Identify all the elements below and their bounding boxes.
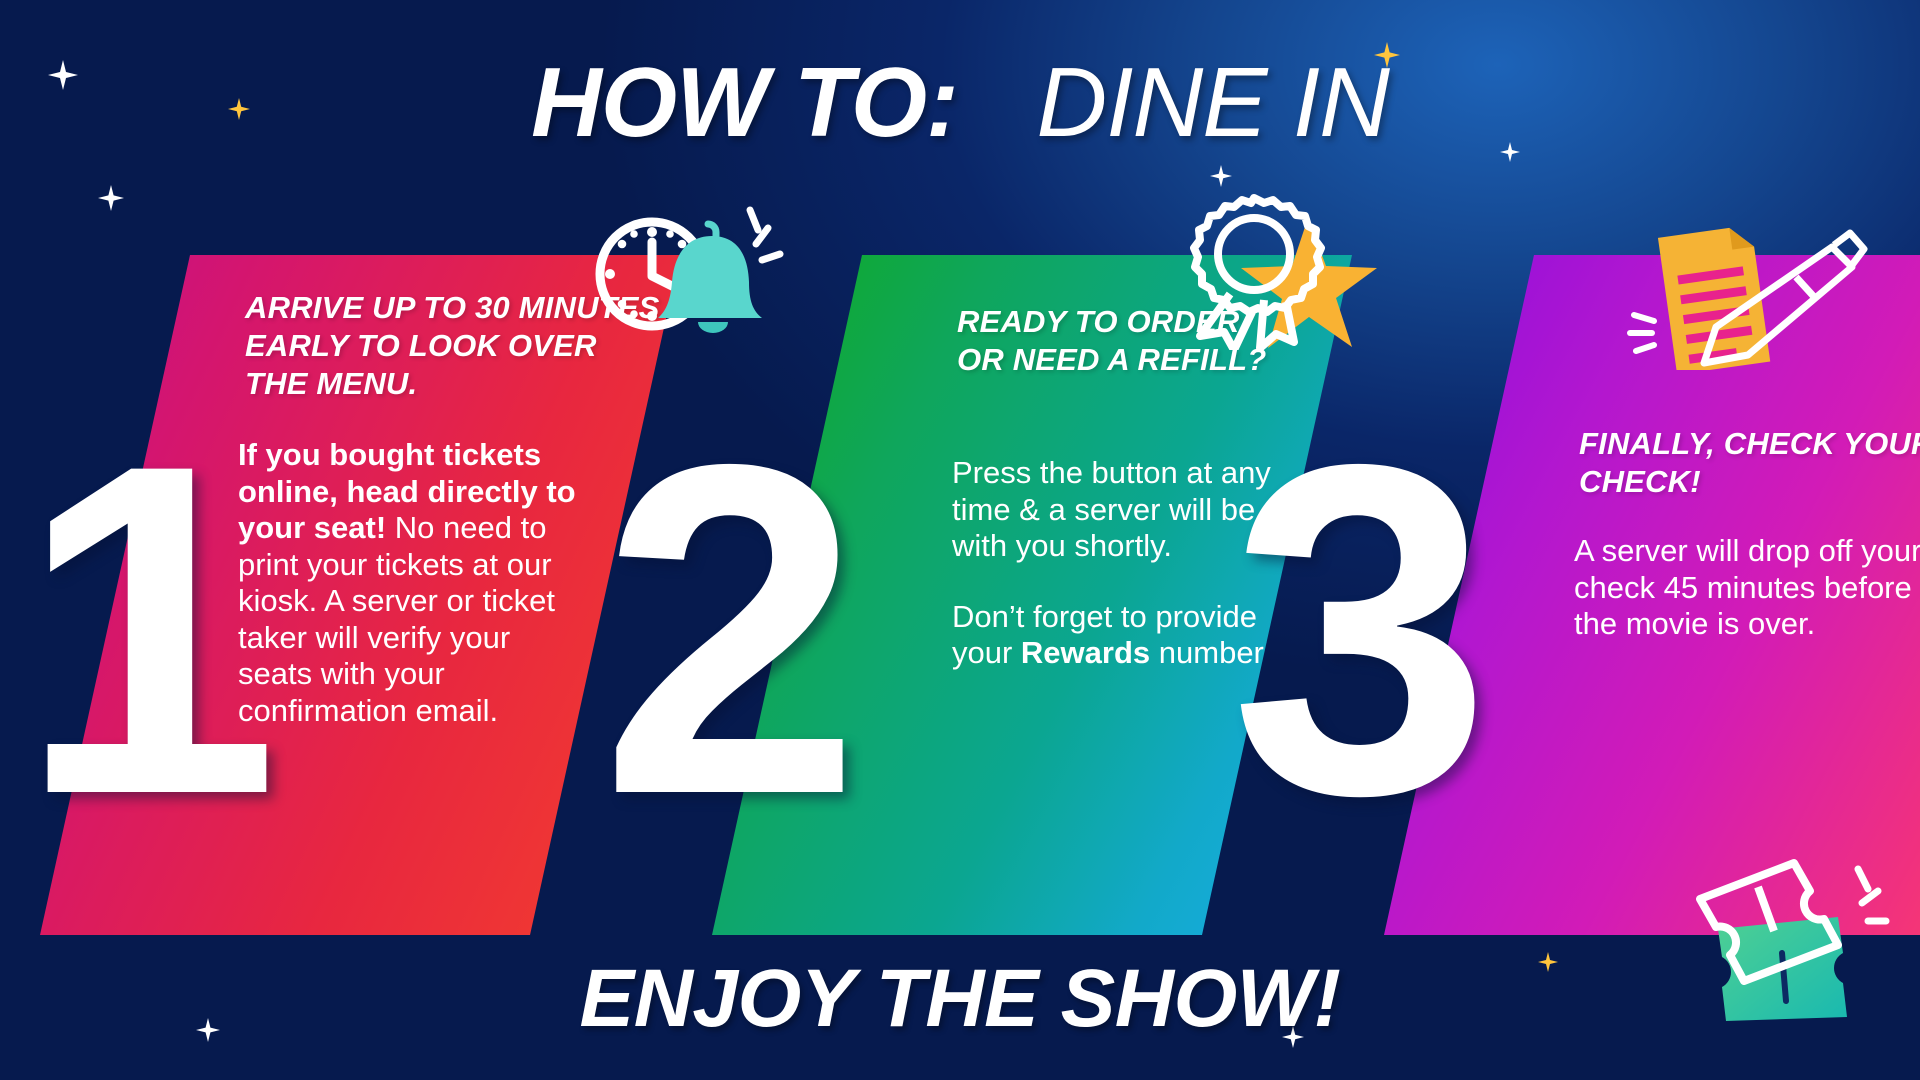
award-ribbon-star-icon bbox=[1178, 190, 1388, 355]
receipt-pen-icon bbox=[1620, 205, 1870, 375]
step-number-3: 3 bbox=[1230, 420, 1491, 840]
page-title: HOW TO: DINE IN bbox=[0, 46, 1920, 159]
step-2-paragraph-1: Press the button at any time & a server … bbox=[952, 455, 1271, 563]
step-1-body: If you bought tickets online, head direc… bbox=[238, 437, 588, 730]
step-number-1: 1 bbox=[18, 420, 279, 840]
step-2-rewards-bold: Rewards bbox=[1021, 635, 1150, 670]
title-part-how-to: HOW TO: bbox=[531, 47, 958, 157]
step-3-body: A server will drop off your check 45 min… bbox=[1574, 533, 1920, 643]
step-number-2: 2 bbox=[600, 420, 861, 840]
step-3-heading: FINALLY, CHECK YOUR CHECK! bbox=[1579, 425, 1920, 501]
footer-tagline: ENJOY THE SHOW! bbox=[0, 952, 1920, 1046]
alarm-clock-bell-icon bbox=[590, 196, 790, 361]
title-part-dine-in: DINE IN bbox=[1037, 47, 1389, 157]
